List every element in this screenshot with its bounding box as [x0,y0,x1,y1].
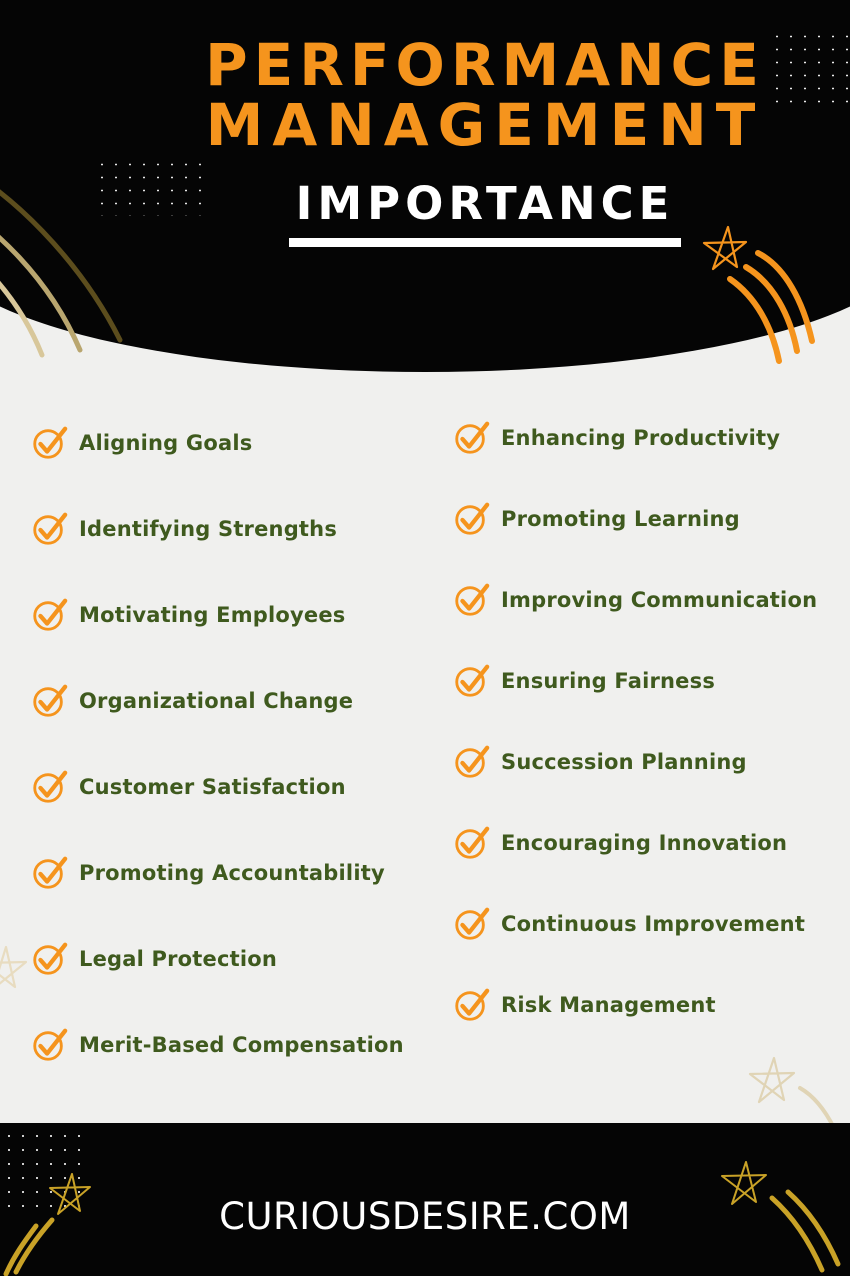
list-item[interactable]: Continuous Improvement [452,881,850,967]
list-item[interactable]: Promoting Learning [452,476,850,562]
check-circle-icon [452,905,490,943]
benefits-list: Aligning Goals Identifying Strengths Mot… [0,400,850,1100]
subtitle-group: IMPORTANCE [289,181,681,247]
check-circle-icon [452,500,490,538]
title-line-2: MANAGEMENT [60,96,850,156]
list-item-label: Aligning Goals [79,431,252,455]
list-item[interactable]: Organizational Change [30,658,450,744]
page-subtitle: IMPORTANCE [289,181,681,226]
list-item[interactable]: Identifying Strengths [30,486,450,572]
list-item-label: Improving Communication [501,588,817,612]
footer-banner: CURIOUSDESIRE.COM [0,1123,850,1276]
list-item-label: Customer Satisfaction [79,775,346,799]
list-item[interactable]: Aligning Goals [30,400,450,486]
check-circle-icon [30,510,68,548]
list-item[interactable]: Motivating Employees [30,572,450,658]
list-item[interactable]: Enhancing Productivity [452,395,850,481]
list-item-label: Enhancing Productivity [501,426,780,450]
list-item-label: Organizational Change [79,689,353,713]
list-item-label: Legal Protection [79,947,277,971]
page-title: PERFORMANCE MANAGEMENT [60,0,850,155]
list-item-label: Merit-Based Compensation [79,1033,404,1057]
list-item[interactable]: Customer Satisfaction [30,744,450,830]
list-item[interactable]: Succession Planning [452,719,850,805]
check-circle-icon [452,986,490,1024]
check-circle-icon [452,581,490,619]
list-item[interactable]: Ensuring Fairness [452,638,850,724]
list-item[interactable]: Encouraging Innovation [452,800,850,886]
infographic-poster: PERFORMANCE MANAGEMENT IMPORTANCE [0,0,850,1276]
check-circle-icon [452,824,490,862]
list-item-label: Promoting Learning [501,507,740,531]
benefits-column-left: Aligning Goals Identifying Strengths Mot… [30,400,450,1088]
list-item-label: Motivating Employees [79,603,346,627]
check-circle-icon [30,682,68,720]
list-item-label: Encouraging Innovation [501,831,787,855]
check-circle-icon [452,743,490,781]
check-circle-icon [30,1026,68,1064]
list-item-label: Identifying Strengths [79,517,337,541]
subtitle-underline-rule [289,238,681,247]
title-line-1: PERFORMANCE [205,31,765,99]
check-circle-icon [452,662,490,700]
list-item[interactable]: Legal Protection [30,916,450,1002]
list-item[interactable]: Merit-Based Compensation [30,1002,450,1088]
list-item[interactable]: Improving Communication [452,557,850,643]
list-item[interactable]: Promoting Accountability [30,830,450,916]
check-circle-icon [30,596,68,634]
benefits-column-right: Enhancing Productivity Promoting Learnin… [452,400,850,1048]
check-circle-icon [452,419,490,457]
list-item-label: Promoting Accountability [79,861,385,885]
title-group: PERFORMANCE MANAGEMENT IMPORTANCE [60,0,850,247]
list-item-label: Ensuring Fairness [501,669,715,693]
list-item[interactable]: Risk Management [452,962,850,1048]
check-circle-icon [30,854,68,892]
list-item-label: Continuous Improvement [501,912,805,936]
check-circle-icon [30,424,68,462]
check-circle-icon [30,940,68,978]
list-item-label: Succession Planning [501,750,747,774]
website-url[interactable]: CURIOUSDESIRE.COM [0,1195,850,1238]
list-item-label: Risk Management [501,993,716,1017]
check-circle-icon [30,768,68,806]
